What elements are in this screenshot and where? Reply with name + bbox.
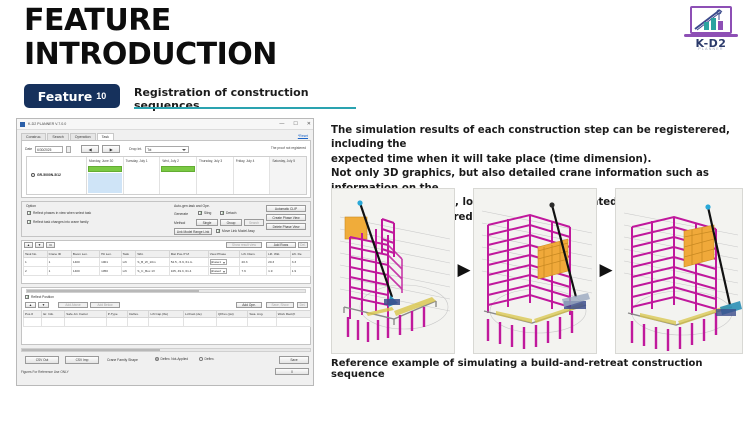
- col-qpres: QPres.(psi): [217, 311, 248, 318]
- page-title: FEATURE INTRODUCTION: [24, 4, 277, 71]
- date-spinner[interactable]: [66, 146, 71, 153]
- cell-empty[interactable]: [248, 318, 276, 327]
- button-csv-out[interactable]: CSV Out: [25, 356, 59, 364]
- gantt-task-label: GR-5000N-5/12: [37, 173, 61, 177]
- col-pos-num: Pos.#: [24, 311, 42, 318]
- tab-construc[interactable]: Construc.: [21, 133, 46, 140]
- model-strip-caption: Reference example of simulating a build-…: [331, 358, 743, 380]
- col-wkt: Wkt.: [136, 251, 169, 258]
- cell-lift-diam[interactable]: 7.6: [240, 267, 267, 276]
- day-header-friday: Friday, July 4: [234, 157, 270, 163]
- bim-model-3: [616, 189, 743, 354]
- cell-lift-wkt[interactable]: 1.9: [267, 267, 291, 276]
- button-group[interactable]: Group: [220, 219, 242, 226]
- button-link-model-range[interactable]: Link Model Range Link: [174, 228, 212, 235]
- checkbox-move-link-model-assy[interactable]: Move Link Model Assy: [216, 229, 255, 233]
- button-add-above[interactable]: Add Above: [58, 302, 88, 308]
- footer-spin-button[interactable]: 0: [275, 368, 309, 375]
- col-ld-fact: Ld Fact.(de): [183, 311, 216, 318]
- table-row[interactable]: 2 1 1400 1050 Lift S_C_Box 1V 105, 49.3,…: [24, 267, 311, 276]
- cell-hit-len[interactable]: 1001: [100, 258, 122, 267]
- checkbox-sling-label: Sling: [204, 211, 211, 215]
- brand-logo: K-D2 PLANNER: [680, 4, 742, 52]
- horizontal-scrollbar[interactable]: [26, 289, 306, 293]
- button-add-rows[interactable]: Add Rows: [266, 242, 296, 248]
- cell-task-no[interactable]: 2: [24, 267, 48, 276]
- cell-crane-id[interactable]: 1: [47, 258, 71, 267]
- registration-status: The proof not registered: [271, 146, 306, 150]
- cell-mat-pos[interactable]: 52.5, -5.9, 61.4-: [169, 258, 208, 267]
- radio-deflex-not-applied[interactable]: Deflex. Not-Applied: [155, 357, 188, 361]
- day-header-thursday: Thursday, July 3: [197, 157, 233, 163]
- arrow-icon-2: ▶: [598, 262, 614, 278]
- application-screenshot[interactable]: K-D2 PLANNER V.7.0.0 — ☐ ✕ Construc. Sea…: [16, 118, 314, 386]
- position-table-header-row: Pos.# Er. Info. Safe.Jct. Factor P-Type …: [24, 311, 311, 318]
- logo-subtext: PLANNER: [680, 47, 742, 51]
- radio-deflex-label: Deflex.: [205, 357, 215, 361]
- visibility-icon[interactable]: [31, 173, 35, 177]
- feature-badge-number: 10: [96, 91, 106, 101]
- tab-operation[interactable]: Operation: [70, 133, 96, 140]
- cell-empty[interactable]: [128, 318, 149, 327]
- day-header-wednesday: Wed, July 2: [160, 157, 196, 163]
- button-single[interactable]: Single: [196, 219, 218, 226]
- col-swa-ang: Swa. Ang.: [248, 311, 276, 318]
- gantt-selection-monday: [88, 173, 122, 193]
- tab-search[interactable]: Search: [47, 133, 68, 140]
- col-crane-id: Crane ID: [47, 251, 71, 258]
- cell-empty[interactable]: [149, 318, 184, 327]
- day-header-monday: Monday, June 30: [87, 157, 123, 163]
- position-table-panel[interactable]: Reflect Position ▲ ▼ Add Above Add Below…: [21, 287, 311, 345]
- logo-chart-icon: [692, 8, 730, 32]
- button-create-phase-view[interactable]: Create Phase View: [266, 214, 306, 221]
- cell-lift-de[interactable]: 1.9: [290, 267, 310, 276]
- feature-badge: Feature 10: [24, 84, 120, 108]
- gantt-day-thursday[interactable]: Thursday, July 3: [197, 157, 234, 194]
- task-table-panel[interactable]: ▲ ▼ ⧉ Show result view Add Rows Del. Tas…: [21, 240, 311, 284]
- cell-empty[interactable]: [24, 318, 42, 327]
- model-image-step-1: [331, 188, 455, 354]
- window-controls[interactable]: — ☐ ✕: [279, 121, 311, 127]
- options-panel: Option Reflect phases in view when selec…: [21, 201, 311, 237]
- col-lift-cap: Lift Cap.(lbs): [149, 311, 184, 318]
- cell-boom-len[interactable]: 1400: [71, 258, 99, 267]
- col-hit-len: Hit Len.: [100, 251, 122, 258]
- app-tabbar[interactable]: Construc. Search Operation Task: [21, 133, 114, 140]
- table-row[interactable]: [24, 318, 311, 327]
- move-up-button[interactable]: ▲: [24, 242, 33, 248]
- button-position-delete[interactable]: Del.: [297, 302, 308, 308]
- feature-underline: [134, 107, 356, 109]
- col-task: Task: [121, 251, 136, 258]
- button-save[interactable]: Save: [279, 356, 309, 364]
- crane-family-shape-label: Crane Family Shape: [107, 358, 138, 362]
- col-boom-len: Boom Len.: [71, 251, 99, 258]
- gantt-day-friday[interactable]: Friday, July 4: [234, 157, 271, 194]
- cell-empty[interactable]: [217, 318, 248, 327]
- cell-empty[interactable]: [276, 318, 310, 327]
- cell-lift-diam[interactable]: 20.3: [240, 258, 267, 267]
- app-titlebar: K-D2 PLANNER V.7.0.0 — ☐ ✕: [17, 119, 313, 130]
- col-mat-pos-xyz: Mat Pos-XYZ: [169, 251, 208, 258]
- cell-empty[interactable]: [106, 318, 128, 327]
- gantt-task-column: GR-5000N-5/12: [27, 157, 87, 194]
- cell-lift-de[interactable]: 3.3: [290, 258, 310, 267]
- cell-empty[interactable]: [183, 318, 216, 327]
- footer-scrollbar[interactable]: [21, 348, 311, 352]
- cell-view-phase[interactable]: phase1: [208, 258, 240, 267]
- button-add-ope[interactable]: Add Ope.: [236, 302, 262, 308]
- position-table[interactable]: Pos.# Er. Info. Safe.Jct. Factor P-Type …: [23, 310, 311, 327]
- feature-badge-label: Feature: [38, 89, 92, 104]
- checkbox-reflect-task-changes[interactable]: Reflect task changes into crane family: [27, 220, 89, 224]
- cell-mat-pos[interactable]: 105, 49.3, 61.4: [169, 267, 208, 276]
- checkbox-reflect-position[interactable]: Reflect Position: [25, 295, 54, 299]
- checkbox-reflect-task-changes-label: Reflect task changes into crane family: [33, 220, 89, 224]
- button-search[interactable]: Search: [244, 219, 264, 226]
- checkbox-detach-label: Detach: [226, 211, 236, 215]
- gantt-task-row[interactable]: GR-5000N-5/12: [31, 173, 61, 177]
- drop-interval-select[interactable]: Tot: [145, 146, 189, 153]
- button-add-below[interactable]: Add Below: [90, 302, 120, 308]
- position-move-up-button[interactable]: ▲: [25, 302, 36, 308]
- button-automatic-clip[interactable]: Automatic CLIP: [266, 205, 306, 212]
- button-save-show[interactable]: Save, Show: [266, 302, 294, 308]
- col-lift-wkt: Lift. Wkt.: [267, 251, 291, 258]
- radio-deflex[interactable]: Deflex.: [199, 357, 214, 361]
- app-window-title: K-D2 PLANNER V.7.0.0: [28, 122, 66, 126]
- cell-view-phase[interactable]: phase2: [208, 267, 240, 276]
- date-label: Date: [25, 147, 32, 151]
- logo-screen-icon: [690, 6, 732, 34]
- checkbox-reflect-position-label: Reflect Position: [31, 295, 54, 299]
- cell-task[interactable]: Lift: [121, 258, 136, 267]
- col-er-info: Er. Info.: [42, 311, 65, 318]
- tab-task[interactable]: Task: [97, 133, 114, 140]
- move-down-button[interactable]: ▼: [35, 242, 44, 248]
- task-schedule-panel: Date 6/30/2025 ◀ ▶ Drop Int. Tot The pro…: [21, 140, 311, 198]
- gantt-day-saturday[interactable]: Saturday, July 5: [270, 157, 306, 194]
- app-icon: [20, 122, 25, 127]
- gantt-bar-monday[interactable]: [88, 166, 122, 172]
- cell-crane-id[interactable]: 1: [47, 267, 71, 276]
- cell-empty[interactable]: [42, 318, 65, 327]
- gantt-day-monday[interactable]: Monday, June 30: [87, 157, 124, 194]
- page-title-line-1: FEATURE: [24, 4, 277, 38]
- day-header-tuesday: Tuesday, July 1: [124, 157, 160, 163]
- cell-wkt[interactable]: S_C_Box 1V: [136, 267, 169, 276]
- position-move-down-button[interactable]: ▼: [38, 302, 49, 308]
- col-lift-diam: Lift. Diam.: [240, 251, 267, 258]
- date-input[interactable]: 6/30/2025: [35, 146, 63, 153]
- reset-link[interactable]: *Reset: [298, 134, 308, 138]
- cell-lift-wkt[interactable]: 20.3: [267, 258, 291, 267]
- cell-boom-len[interactable]: 1400: [71, 267, 99, 276]
- options-group-label: Option: [26, 204, 36, 208]
- method-label: Method: [174, 221, 185, 225]
- cell-empty[interactable]: [65, 318, 106, 327]
- description-line-2: expected time when it will take place (t…: [331, 153, 743, 167]
- autogen-group-label: Auto-gen.task and Ope.: [174, 204, 210, 208]
- table-row[interactable]: 1 1 1400 1001 Lift S_B_W_10m 52.5, -5.9,…: [24, 258, 311, 267]
- task-table-header-row: Task No. Crane ID Boom Len. Hit Len. Tas…: [24, 251, 311, 258]
- button-delete-row[interactable]: Del.: [298, 242, 308, 248]
- arrow-icon-1: ▶: [456, 262, 472, 278]
- radio-deflex-not-applied-label: Deflex. Not-Applied: [161, 357, 188, 361]
- checkbox-move-link-label: Move Link Model Assy: [222, 229, 255, 233]
- day-header-saturday: Saturday, July 5: [270, 157, 306, 163]
- gantt-bar-wednesday[interactable]: [161, 166, 195, 172]
- duplicate-button[interactable]: ⧉: [46, 242, 55, 248]
- cell-task-no[interactable]: 1: [24, 258, 48, 267]
- view-phase-select[interactable]: phase1: [210, 259, 227, 265]
- gantt-day-columns: Monday, June 30 Tuesday, July 1 Wed, Jul…: [87, 157, 306, 194]
- button-csv-imp[interactable]: CSV Imp: [65, 356, 99, 364]
- col-task-no: Task No.: [24, 251, 48, 258]
- button-delete-phase-view[interactable]: Delete Phase View: [266, 223, 306, 230]
- app-footer: CSV Out CSV Imp Crane Family Shape Defle…: [21, 348, 311, 384]
- feature-header-row: Feature 10 Registration of construction …: [24, 84, 354, 112]
- task-table[interactable]: Task No. Crane ID Boom Len. Hit Len. Tas…: [23, 250, 311, 276]
- col-work-rad: Work Rad.(ft: [276, 311, 310, 318]
- maximize-icon[interactable]: ☐: [293, 121, 297, 127]
- footer-note: Figures For Reference Use ONLY: [21, 370, 69, 374]
- col-view-phase: View Phase: [208, 251, 240, 258]
- bim-model-2: [474, 189, 597, 354]
- model-image-step-2: [473, 188, 597, 354]
- checkbox-reflect-phases[interactable]: Reflect phases in view when select task: [27, 211, 91, 215]
- schedule-toolbar: Date 6/30/2025 ◀ ▶ Drop Int. Tot: [25, 144, 307, 154]
- col-deflex: Deflex.: [128, 311, 149, 318]
- page-title-line-2: INTRODUCTION: [24, 38, 277, 72]
- col-p-type: P-Type: [106, 311, 128, 318]
- model-image-step-3: [615, 188, 743, 354]
- drop-interval-label: Drop Int.: [129, 147, 142, 151]
- cell-task[interactable]: Lift: [121, 267, 136, 276]
- minimize-icon[interactable]: —: [279, 121, 284, 127]
- next-day-button[interactable]: ▶: [102, 145, 120, 153]
- cell-wkt[interactable]: S_B_W_10m: [136, 258, 169, 267]
- close-icon[interactable]: ✕: [307, 121, 311, 127]
- checkbox-detach[interactable]: Detach: [220, 211, 236, 215]
- prev-day-button[interactable]: ◀: [81, 145, 99, 153]
- gantt-chart[interactable]: GR-5000N-5/12 Monday, June 30 Tuesday, J…: [26, 156, 307, 195]
- description-line-1: The simulation results of each construct…: [331, 124, 743, 153]
- bim-model-1: [332, 189, 455, 354]
- col-safe-jct-factor: Safe.Jct. Factor: [65, 311, 106, 318]
- button-show-result-view[interactable]: Show result view: [226, 242, 262, 248]
- cell-hit-len[interactable]: 1050: [100, 267, 122, 276]
- generate-label: Generate: [174, 212, 188, 216]
- checkbox-reflect-phases-label: Reflect phases in view when select task: [33, 211, 91, 215]
- model-image-strip: ▶: [331, 188, 743, 356]
- view-phase-select[interactable]: phase2: [210, 268, 227, 274]
- gantt-day-wednesday[interactable]: Wed, July 2: [160, 157, 197, 194]
- gantt-day-tuesday[interactable]: Tuesday, July 1: [124, 157, 161, 194]
- checkbox-sling[interactable]: Sling: [198, 211, 211, 215]
- col-lift-de: Lift. De: [290, 251, 310, 258]
